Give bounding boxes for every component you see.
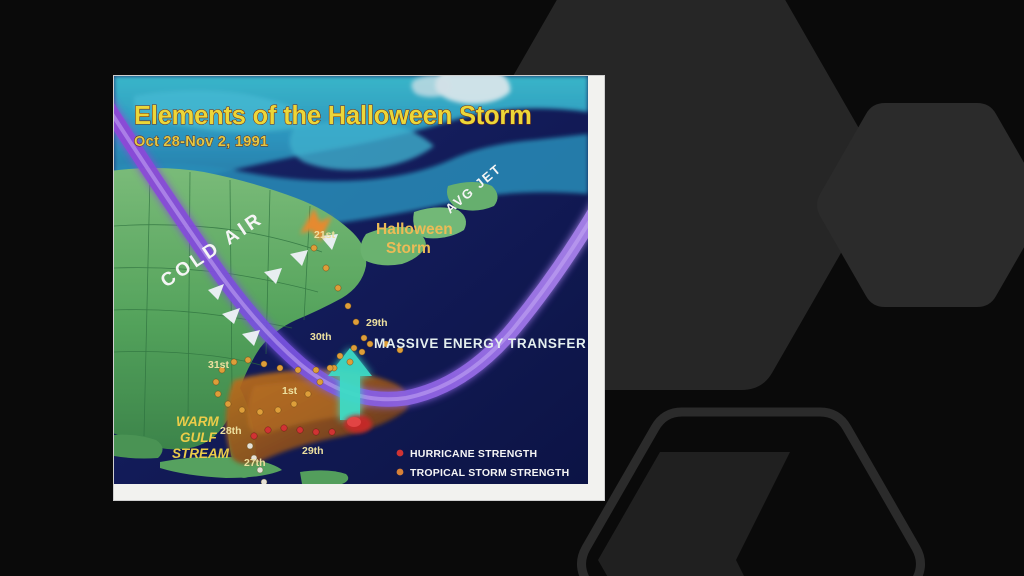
outline-hexagon-shape xyxy=(582,412,921,576)
image-frame: Elements of the Halloween Storm Oct 28-N… xyxy=(114,76,604,500)
grain-overlay xyxy=(114,76,588,484)
weather-map: Elements of the Halloween Storm Oct 28-N… xyxy=(114,76,588,484)
small-hexagon-shape xyxy=(817,103,1024,307)
lower-hexagon-fill xyxy=(598,452,790,576)
screenshot-canvas: Elements of the Halloween Storm Oct 28-N… xyxy=(0,0,1024,576)
halloween-storm-map-svg: Elements of the Halloween Storm Oct 28-N… xyxy=(114,76,588,484)
